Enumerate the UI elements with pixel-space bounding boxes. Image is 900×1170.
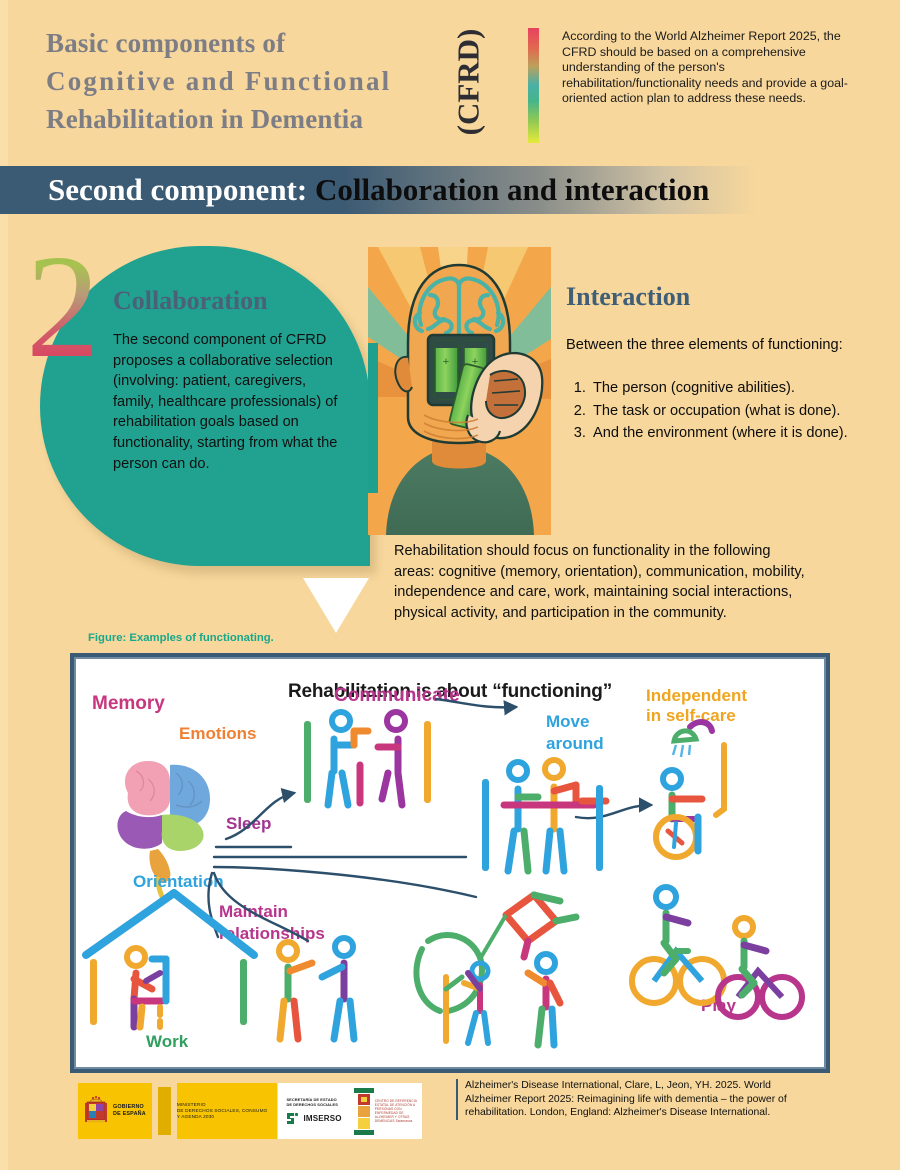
imserso-mark-icon [286, 1112, 299, 1125]
list-item: The person (cognitive abilities). [590, 377, 900, 400]
figure-caption: Figure: Examples of functionating. [88, 632, 274, 644]
play-bikes [632, 887, 802, 1017]
self-care-figures [656, 722, 724, 857]
figure-label-independent-1: Independent [646, 686, 747, 705]
acronym-cfrd: (CFRD) [446, 18, 490, 146]
figure-label-independent-2: in self-care [646, 706, 736, 725]
interaction-title: Interaction [566, 282, 690, 312]
figure-label-sleep: Sleep [226, 814, 271, 833]
relationships-figures [279, 938, 354, 1039]
figure-label-memory: Memory [92, 693, 165, 714]
interaction-subtitle: Between the three elements of functionin… [566, 335, 886, 355]
imserso-row: IMSERSO [286, 1112, 341, 1125]
list-item: And the environment (where it is done). [590, 422, 900, 445]
logo-gobierno-de-espana: GOBIERNO DE ESPAÑA [78, 1083, 152, 1139]
collaboration-body: The second component of CFRD proposes a … [113, 330, 345, 474]
figure-label-move-2: around [546, 734, 604, 753]
acronym-cfrd-label: (CFRD) [450, 29, 486, 136]
citation: Alzheimer's Disease International, Clare… [456, 1079, 810, 1120]
cre-tower-icon [353, 1086, 375, 1136]
page-title: Basic components of Cognitive and Functi… [46, 24, 466, 138]
head-brain-battery-illustration: + + [368, 247, 551, 535]
section-banner-text: Second component: Collaboration and inte… [48, 170, 709, 210]
interaction-list: The person (cognitive abilities). The ta… [566, 377, 900, 445]
logo-imserso: SECRETARÍA DE ESTADO DE DERECHOS SOCIALE… [277, 1083, 349, 1139]
figure-label-work: Work [146, 1032, 189, 1051]
logo-cre-label: CENTRO DE REFERENCIA ESTATAL DE ATENCIÓN… [375, 1099, 419, 1124]
infographic-page: Basic components of Cognitive and Functi… [0, 0, 900, 1170]
logo-imserso-label: IMSERSO [303, 1114, 341, 1123]
gradient-accent-bar [528, 28, 539, 143]
down-triangle-icon [303, 578, 369, 633]
figure-inner: Rehabilitation is about “functioning” [74, 657, 826, 1069]
figure-label-communicate: Communicate [334, 685, 460, 706]
logo-gov-line1: GOBIERNO [113, 1104, 146, 1111]
page-title-line1: Basic components of [46, 24, 466, 62]
collaboration-title: Collaboration [113, 286, 268, 316]
logo-gov-line2: DE ESPAÑA [113, 1111, 146, 1118]
svg-text:+: + [443, 356, 449, 368]
page-title-line2: Cognitive and Functional [46, 62, 466, 100]
figure-label-move-1: Move [546, 712, 589, 731]
logo-cre-alzheimer: CENTRO DE REFERENCIA ESTATAL DE ATENCIÓN… [350, 1083, 422, 1139]
spain-coat-of-arms-icon [84, 1094, 108, 1128]
footer-logos: GOBIERNO DE ESPAÑA MINISTERIO DE DERECHO… [78, 1083, 422, 1139]
header-note: According to the World Alzheimer Report … [562, 29, 852, 107]
logo-divider [158, 1087, 171, 1135]
functioning-diagram: Memory Emotions Sleep Orientation Commun… [76, 659, 824, 1067]
logo-min-line3: Y AGENDA 2030 [177, 1114, 268, 1120]
banner-topic: Collaboration and interaction [315, 172, 709, 207]
logo-ministerio: MINISTERIO DE DERECHOS SOCIALES, CONSUMO… [177, 1083, 278, 1139]
communicate-figures [304, 712, 431, 805]
component-number: 2 [26, 233, 100, 381]
logo-sec-line2: DE DERECHOS SOCIALES [286, 1102, 341, 1107]
figure-frame: Rehabilitation is about “functioning” [70, 653, 830, 1073]
rehab-paragraph: Rehabilitation should focus on functiona… [394, 541, 814, 623]
figure-label-emotions: Emotions [179, 724, 256, 743]
move-around-figures [482, 760, 606, 871]
page-title-line3: Rehabilitation in Dementia [46, 100, 466, 138]
banner-prefix: Second component: [48, 172, 307, 207]
list-item: The task or occupation (what is done). [590, 400, 900, 423]
